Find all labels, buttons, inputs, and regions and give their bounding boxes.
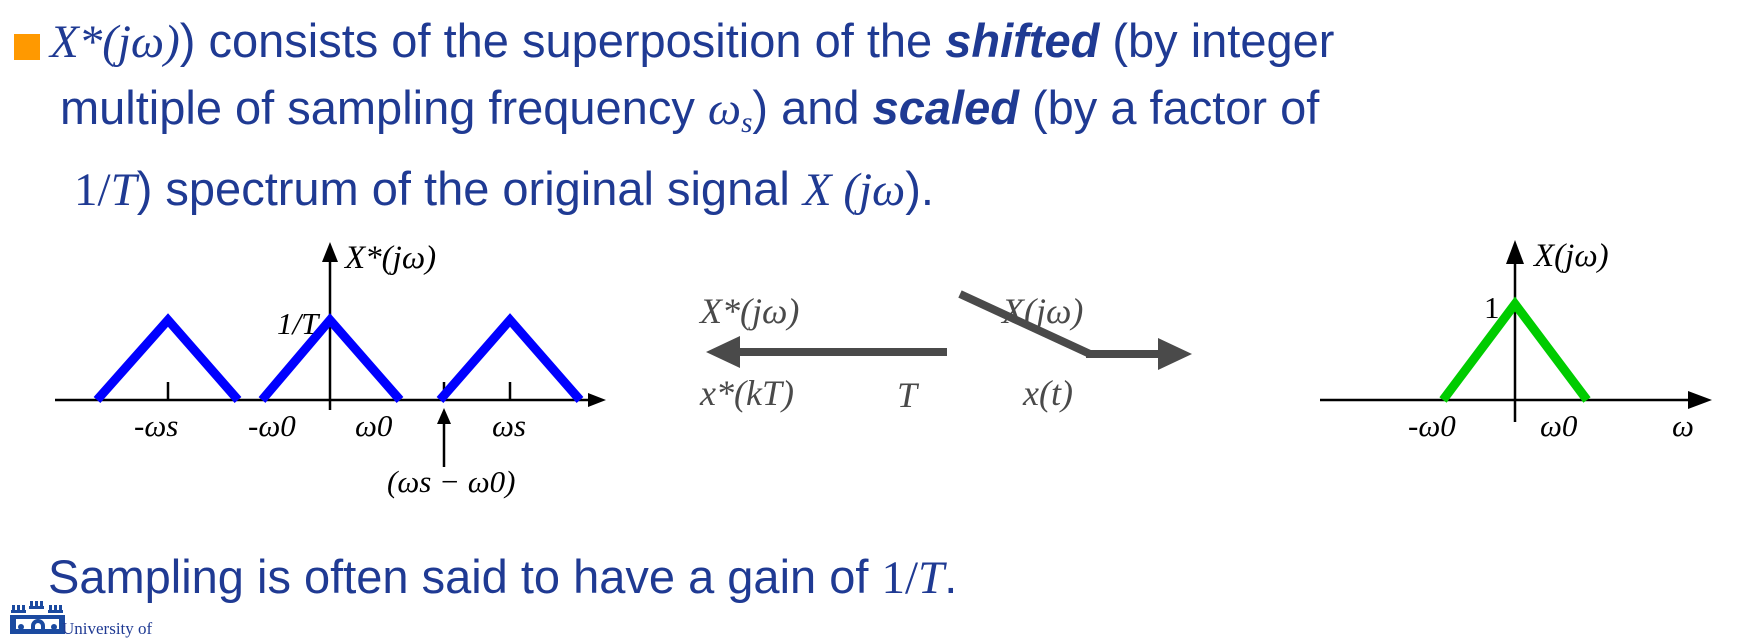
- line3-X: X: [803, 164, 832, 216]
- line2-text-a: multiple of sampling frequency: [60, 81, 708, 134]
- line1-bold-shifted: shifted: [945, 14, 1099, 67]
- figure-svg: [0, 232, 1750, 542]
- line1-paren: ): [164, 16, 180, 68]
- line3-text-c: ).: [905, 162, 934, 215]
- right-plot-group: [1320, 240, 1712, 422]
- bullet-text: X*(jω)) consists of the superposition of…: [50, 8, 1740, 223]
- left-plot-axis-label: X*(jω): [345, 240, 436, 277]
- line1-omega: ω: [131, 16, 164, 68]
- line2-bold-scaled: scaled: [873, 81, 1019, 134]
- right-plot-amplitude-label: 1: [1484, 290, 1500, 326]
- left-plot-tick-label-minus-ws: -ωs: [134, 408, 178, 444]
- left-plot-annotation-label: (ωs − ω0): [387, 464, 515, 500]
- bottom-text-b: .: [944, 550, 957, 603]
- bottom-one-over: 1/: [881, 552, 918, 604]
- line2-text-c: (by a factor of: [1019, 81, 1319, 134]
- left-plot-tick-label-w0: ω0: [355, 408, 392, 444]
- bullet-square-icon: [14, 34, 40, 60]
- line3-text-a: ) spectrum of the original signal: [137, 162, 803, 215]
- line3-text-b: (j: [832, 164, 872, 216]
- left-plot-annotation-arrowhead: [437, 408, 451, 424]
- right-plot-tick-label-minus-w0: -ω0: [1408, 408, 1456, 444]
- left-plot-y-axis-arrowhead: [322, 242, 338, 262]
- right-plot-axis-label: X(jω): [1534, 238, 1609, 275]
- slide-canvas: X*(jω)) consists of the superposition of…: [0, 0, 1750, 644]
- logo-caption: University of: [62, 620, 152, 637]
- middle-arrow-left-bottom-label: x*(kT): [700, 372, 794, 414]
- middle-arrow-right-top-label: X(jω): [1002, 290, 1083, 332]
- line3-omega: ω: [872, 164, 905, 216]
- line3-one-over: 1/: [74, 164, 111, 216]
- line2-omega: ω: [708, 83, 741, 135]
- left-plot-amplitude-label: 1/T: [277, 306, 318, 342]
- line2-omega-sub: s: [741, 107, 752, 139]
- right-plot-x-axis-label: ω: [1672, 408, 1694, 444]
- left-plot-tick-label-ws: ωs: [492, 408, 526, 444]
- middle-arrow-left-top-label: X*(jω): [700, 290, 799, 332]
- right-plot-y-axis-arrowhead: [1506, 240, 1524, 264]
- bullet-line-2: multiple of sampling frequency ωs) and s…: [50, 75, 1740, 156]
- right-plot-tick-label-w0: ω0: [1540, 408, 1577, 444]
- left-plot-x-axis-arrowhead: [588, 393, 606, 407]
- line2-text-b: ) and: [752, 81, 872, 134]
- left-plot-tick-label-minus-w0: -ω0: [248, 408, 296, 444]
- line3-T: T: [111, 164, 137, 216]
- bottom-T: T: [918, 552, 944, 604]
- right-arrow-head: [1158, 338, 1192, 370]
- university-crest-logo: University of: [8, 596, 198, 644]
- crest-icon: [8, 596, 68, 644]
- line1-text-a: ) consists of the superposition of the: [180, 14, 945, 67]
- middle-arrow-right-bottom-label: x(t): [1023, 372, 1073, 414]
- middle-sampler-label: T: [897, 374, 917, 416]
- left-arrow-head: [706, 336, 740, 368]
- line1-text-b: (by integer: [1099, 14, 1334, 67]
- line1-math-x: X*(j: [50, 16, 131, 68]
- bullet-line-3: 1/T) spectrum of the original signal X (…: [50, 156, 1740, 223]
- right-plot-x-axis-arrowhead: [1688, 391, 1712, 409]
- sampling-figure: X*(jω) 1/T -ωs -ω0 ω0 ωs (ωs − ω0) X*(jω…: [0, 232, 1750, 542]
